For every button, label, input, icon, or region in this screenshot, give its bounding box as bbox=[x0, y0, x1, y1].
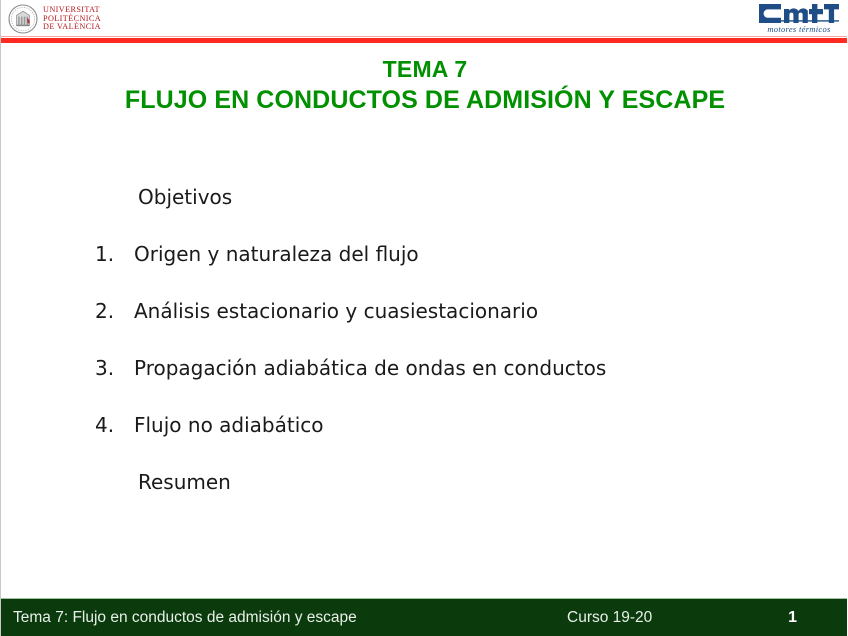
list-item-label: Flujo no adiabático bbox=[134, 413, 324, 437]
list-item-number: 1. bbox=[95, 242, 127, 266]
cmt-wordmark-icon bbox=[757, 2, 841, 23]
title-line-2: FLUJO EN CONDUCTOS DE ADMISIÓN Y ESCAPE bbox=[1, 85, 848, 115]
list-item: Resumen bbox=[1, 453, 848, 510]
list-item-number: 4. bbox=[95, 413, 127, 437]
page-title: TEMA 7 FLUJO EN CONDUCTOS DE ADMISIÓN Y … bbox=[1, 55, 848, 115]
list-item: 3. Propagación adiabática de ondas en co… bbox=[1, 339, 848, 396]
agenda-list: Objetivos 1. Origen y naturaleza del flu… bbox=[1, 168, 848, 510]
list-item: 4. Flujo no adiabático bbox=[1, 396, 848, 453]
list-item-label: Objetivos bbox=[138, 185, 232, 209]
footer-page-number: 1 bbox=[788, 599, 797, 636]
cmt-logo: motores térmicos bbox=[755, 2, 843, 36]
footer-topic-label: Tema 7: Flujo en conductos de admisión y… bbox=[13, 599, 357, 636]
header-red-rule bbox=[1, 38, 848, 43]
title-line-1: TEMA 7 bbox=[1, 55, 848, 83]
footer-course-label: Curso 19-20 bbox=[567, 599, 652, 636]
list-item-number: 3. bbox=[95, 356, 127, 380]
slide: UNIVERSITAT POLITÈCNICA DE VALÈNCIA moto… bbox=[0, 0, 848, 636]
list-item: Objetivos bbox=[1, 168, 848, 225]
list-item-label: Origen y naturaleza del flujo bbox=[134, 242, 419, 266]
upv-logo: UNIVERSITAT POLITÈCNICA DE VALÈNCIA bbox=[8, 3, 136, 35]
list-item: 1. Origen y naturaleza del flujo bbox=[1, 225, 848, 282]
header-rule-hairline bbox=[1, 36, 848, 37]
cmt-subtitle: motores térmicos bbox=[755, 24, 843, 34]
list-item-label: Resumen bbox=[138, 470, 231, 494]
slide-footer: Tema 7: Flujo en conductos de admisión y… bbox=[1, 599, 848, 636]
slide-header: UNIVERSITAT POLITÈCNICA DE VALÈNCIA moto… bbox=[1, 0, 848, 38]
upv-wordmark: UNIVERSITAT POLITÈCNICA DE VALÈNCIA bbox=[43, 6, 101, 31]
list-item-label: Propagación adiabática de ondas en condu… bbox=[134, 356, 606, 380]
list-item-label: Análisis estacionario y cuasiestacionari… bbox=[134, 299, 538, 323]
upv-seal-icon bbox=[8, 4, 38, 34]
list-item-number: 2. bbox=[95, 299, 127, 323]
list-item: 2. Análisis estacionario y cuasiestacion… bbox=[1, 282, 848, 339]
upv-line-3: DE VALÈNCIA bbox=[43, 23, 101, 31]
